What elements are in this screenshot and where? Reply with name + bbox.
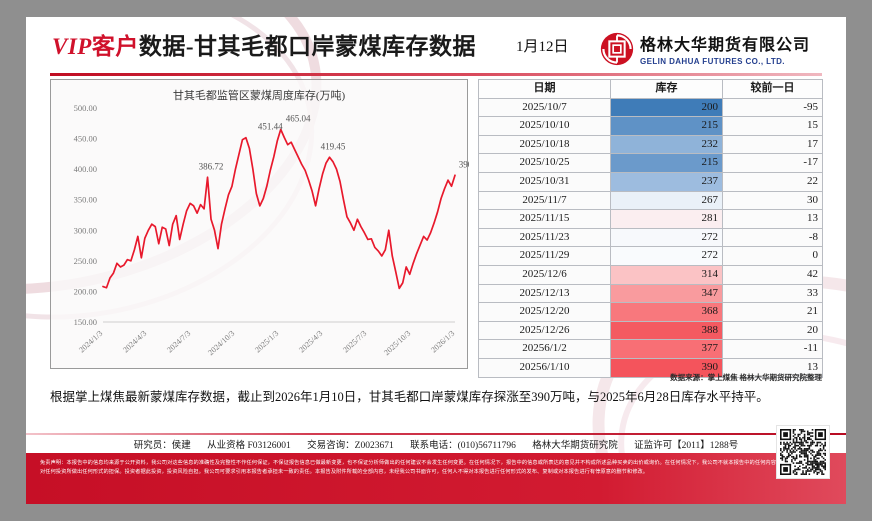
chart-annotation-label: 419.45 bbox=[321, 141, 346, 151]
chart-panel: 甘其毛都监管区蒙煤周度库存(万吨) 500.00450.00400.00350.… bbox=[50, 79, 468, 369]
inventory-line-chart: 500.00450.00400.00350.00300.00250.00200.… bbox=[51, 80, 469, 370]
cell-stock: 237 bbox=[611, 172, 723, 191]
company-name-en: GELIN DAHUA FUTURES CO., LTD. bbox=[640, 57, 810, 66]
table-body: 2025/10/7200-952025/10/10215152025/10/18… bbox=[479, 98, 823, 377]
cell-date: 2025/10/31 bbox=[479, 172, 611, 191]
cell-diff: -17 bbox=[723, 154, 823, 173]
cell-date: 2025/12/6 bbox=[479, 265, 611, 284]
footer-contact-info: 研究员：侯建 从业资格 F03126001 交易咨询：Z0023671 联系电话… bbox=[26, 437, 846, 451]
cell-diff: 20 bbox=[723, 321, 823, 340]
x-tick-label: 2025/10/3 bbox=[382, 329, 412, 357]
title-kehu: 客户 bbox=[92, 34, 139, 59]
footer-phone: 联系电话：(010)56711796 bbox=[410, 441, 516, 451]
header-date: 1月12日 bbox=[516, 35, 569, 56]
cell-date: 20256/1/10 bbox=[479, 358, 611, 377]
table-row: 2025/12/631442 bbox=[479, 265, 823, 284]
cell-diff: 33 bbox=[723, 284, 823, 303]
chart-annotation-label: 465.04 bbox=[286, 113, 311, 123]
cell-diff: 21 bbox=[723, 303, 823, 322]
inventory-table-panel: 日期 库存 较前一日 2025/10/7200-952025/10/102151… bbox=[478, 79, 822, 378]
cell-date: 2025/12/20 bbox=[479, 303, 611, 322]
cell-diff: 17 bbox=[723, 135, 823, 154]
header: VIP客户数据-甘其毛都口岸蒙煤库存数据 1月12日 格林大华期货有限公司 GE… bbox=[26, 17, 846, 75]
cell-stock: 281 bbox=[611, 210, 723, 229]
table-row: 2025/10/25215-17 bbox=[479, 154, 823, 173]
footer-license: 证监许可【2011】1288号 bbox=[634, 441, 738, 451]
table-row: 2025/11/726730 bbox=[479, 191, 823, 210]
chart-annotation-label: 386.72 bbox=[199, 161, 224, 171]
x-tick-label: 2024/10/3 bbox=[206, 329, 236, 357]
column-header-stock: 库存 bbox=[611, 80, 723, 99]
qr-code-icon[interactable] bbox=[776, 425, 830, 479]
cell-stock: 368 bbox=[611, 303, 723, 322]
cell-stock: 377 bbox=[611, 340, 723, 359]
header-divider bbox=[50, 73, 822, 76]
cell-date: 2025/11/7 bbox=[479, 191, 611, 210]
x-tick-label: 2024/4/3 bbox=[121, 329, 148, 355]
inventory-table: 日期 库存 较前一日 2025/10/7200-952025/10/102151… bbox=[478, 79, 823, 378]
table-row: 2025/11/292720 bbox=[479, 247, 823, 266]
cell-stock: 272 bbox=[611, 228, 723, 247]
cell-date: 20256/1/2 bbox=[479, 340, 611, 359]
cell-stock: 200 bbox=[611, 98, 723, 117]
cell-date: 2025/12/13 bbox=[479, 284, 611, 303]
y-tick-label: 500.00 bbox=[74, 103, 97, 113]
cell-diff: 42 bbox=[723, 265, 823, 284]
title-vip: VIP bbox=[52, 34, 92, 59]
x-tick-label: 2024/7/3 bbox=[165, 329, 192, 355]
chart-series-line bbox=[103, 129, 455, 288]
column-header-diff: 较前一日 bbox=[723, 80, 823, 99]
page-title: VIP客户数据-甘其毛都口岸蒙煤库存数据 bbox=[52, 27, 476, 61]
x-tick-label: 2026/1/3 bbox=[429, 329, 456, 355]
summary-narrative: 根据掌上煤焦最新蒙煤库存数据，截止到2026年1月10日，甘其毛都口岸蒙煤库存探… bbox=[50, 388, 822, 406]
y-tick-label: 300.00 bbox=[74, 225, 97, 235]
table-header-row: 日期 库存 较前一日 bbox=[479, 80, 823, 99]
cell-stock: 267 bbox=[611, 191, 723, 210]
table-row: 2025/10/7200-95 bbox=[479, 98, 823, 117]
cell-date: 2025/10/18 bbox=[479, 135, 611, 154]
table-row: 2025/10/1823217 bbox=[479, 135, 823, 154]
cell-stock: 388 bbox=[611, 321, 723, 340]
cell-diff: 0 bbox=[723, 247, 823, 266]
cell-diff: 13 bbox=[723, 210, 823, 229]
y-tick-label: 450.00 bbox=[74, 134, 97, 144]
cell-diff: -95 bbox=[723, 98, 823, 117]
cell-date: 2025/10/25 bbox=[479, 154, 611, 173]
cell-stock: 347 bbox=[611, 284, 723, 303]
x-tick-label: 2025/1/3 bbox=[253, 329, 280, 355]
y-tick-label: 350.00 bbox=[74, 195, 97, 205]
cell-diff: -11 bbox=[723, 340, 823, 359]
cell-diff: 22 bbox=[723, 172, 823, 191]
company-name-cn: 格林大华期货有限公司 bbox=[640, 31, 810, 55]
footer-institute: 格林大华期货研究院 bbox=[532, 441, 618, 451]
company-logo-icon bbox=[600, 32, 634, 66]
table-row: 2025/12/1334733 bbox=[479, 284, 823, 303]
cell-date: 2025/11/23 bbox=[479, 228, 611, 247]
title-rest: 数据-甘其毛都口岸蒙煤库存数据 bbox=[139, 34, 476, 59]
y-tick-label: 400.00 bbox=[74, 164, 97, 174]
slide-canvas: VIP客户数据-甘其毛都口岸蒙煤库存数据 1月12日 格林大华期货有限公司 GE… bbox=[26, 17, 846, 504]
cell-date: 2025/10/10 bbox=[479, 117, 611, 136]
disclaimer-text: 免责声明：本报告中的信息均来源于公开资料，我公司对这些信息的准确性及完整性不作任… bbox=[26, 453, 846, 504]
cell-stock: 272 bbox=[611, 247, 723, 266]
cell-diff: -8 bbox=[723, 228, 823, 247]
table-row: 2025/11/23272-8 bbox=[479, 228, 823, 247]
cell-diff: 15 bbox=[723, 117, 823, 136]
x-tick-label: 2025/7/3 bbox=[341, 329, 368, 355]
chart-annotation-label: 451.44 bbox=[258, 122, 283, 132]
cell-date: 2025/11/29 bbox=[479, 247, 611, 266]
cell-stock: 232 bbox=[611, 135, 723, 154]
chart-y-axis-labels: 500.00450.00400.00350.00300.00250.00200.… bbox=[74, 103, 97, 327]
table-row: 2025/11/1528113 bbox=[479, 210, 823, 229]
cell-stock: 215 bbox=[611, 154, 723, 173]
footer-divider bbox=[26, 433, 846, 435]
x-tick-label: 2025/4/3 bbox=[297, 329, 324, 355]
chart-annotation-label: 390 bbox=[459, 159, 469, 169]
footer-consulting: 交易咨询：Z0023671 bbox=[307, 441, 394, 451]
cell-date: 2025/12/26 bbox=[479, 321, 611, 340]
company-identity: 格林大华期货有限公司 GELIN DAHUA FUTURES CO., LTD. bbox=[640, 31, 810, 66]
table-row: 2025/10/3123722 bbox=[479, 172, 823, 191]
table-row: 20256/1/2377-11 bbox=[479, 340, 823, 359]
x-tick-label: 2024/1/3 bbox=[77, 329, 104, 355]
cell-diff: 30 bbox=[723, 191, 823, 210]
chart-x-axis-labels: 2024/1/32024/4/32024/7/32024/10/32025/1/… bbox=[77, 329, 456, 357]
footer-qualification: 从业资格 F03126001 bbox=[207, 441, 291, 451]
table-row: 2025/12/2036821 bbox=[479, 303, 823, 322]
cell-stock: 314 bbox=[611, 265, 723, 284]
table-row: 2025/10/1021515 bbox=[479, 117, 823, 136]
cell-date: 2025/10/7 bbox=[479, 98, 611, 117]
data-source-note: 数据来源：掌上煤焦 格林大华期货研究院整理 bbox=[670, 372, 822, 383]
cell-date: 2025/11/15 bbox=[479, 210, 611, 229]
table-row: 2025/12/2638820 bbox=[479, 321, 823, 340]
y-tick-label: 150.00 bbox=[74, 317, 97, 327]
footer-researcher: 研究员：侯建 bbox=[134, 441, 191, 451]
y-tick-label: 200.00 bbox=[74, 286, 97, 296]
cell-stock: 215 bbox=[611, 117, 723, 136]
column-header-date: 日期 bbox=[479, 80, 611, 99]
y-tick-label: 250.00 bbox=[74, 256, 97, 266]
